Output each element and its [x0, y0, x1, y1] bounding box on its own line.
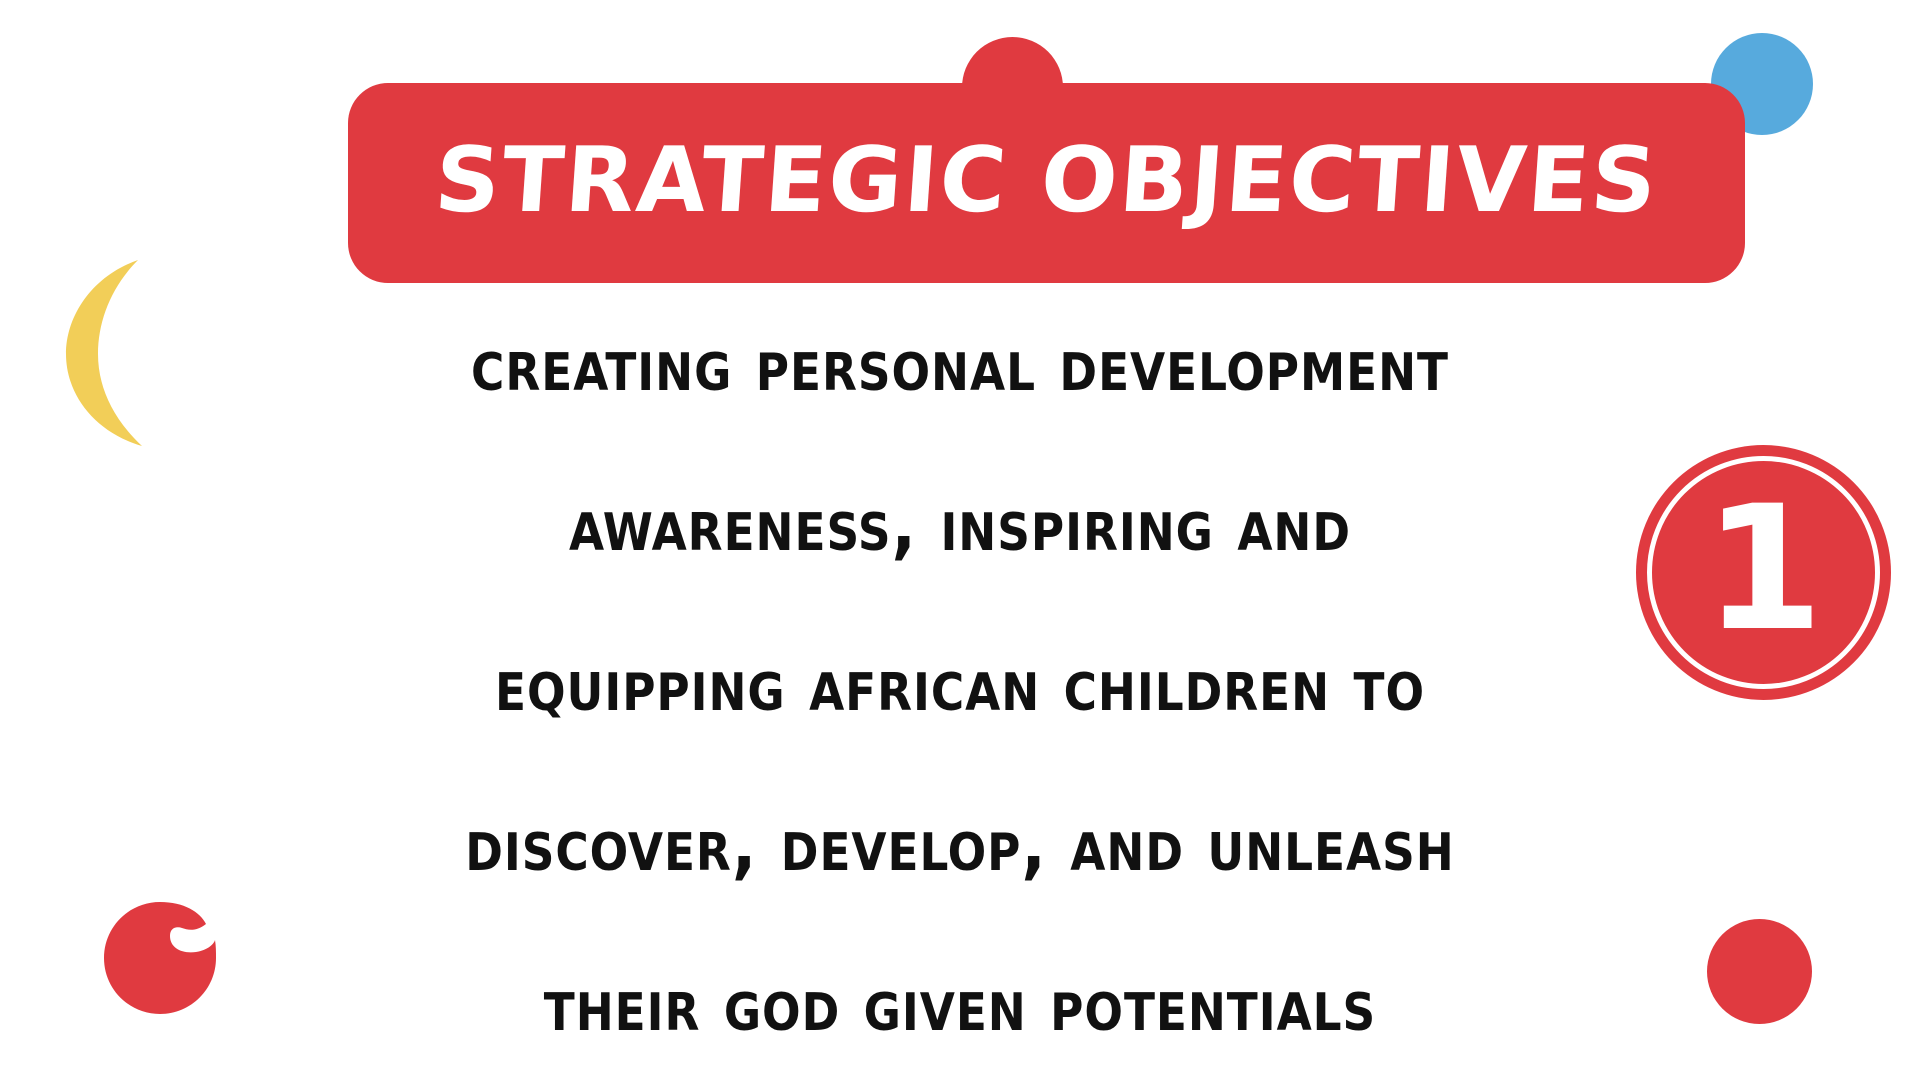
objective-line: Creating personal development — [116, 285, 1804, 445]
objective-statement: Creating personal development awareness,… — [90, 285, 1830, 1080]
objective-line: equipping african children to — [116, 605, 1804, 765]
header-banner: STRATEGIC OBJECTIVES — [348, 83, 1745, 283]
badge-number: 1 — [1636, 445, 1891, 700]
page-title: STRATEGIC OBJECTIVES — [341, 83, 1752, 283]
objective-line: awareness, inspiring and — [116, 445, 1804, 605]
objective-number-badge: 1 — [1636, 445, 1891, 700]
slide-canvas: STRATEGIC OBJECTIVES Creating personal d… — [0, 0, 1920, 1080]
objective-line: discover, develop, and unleash — [116, 765, 1804, 925]
header-tab-bump — [962, 37, 1063, 89]
objective-line: their God given potentials — [116, 925, 1804, 1080]
